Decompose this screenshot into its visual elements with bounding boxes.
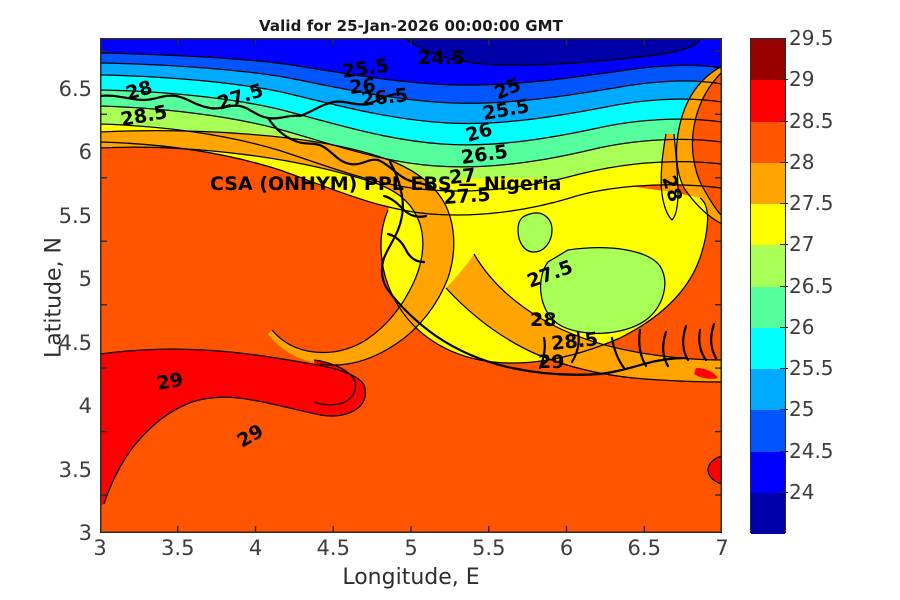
colorbar-band-10 [751,452,785,493]
ytick-4: 4 [79,394,92,418]
y-axis-title: Latitude, N [42,148,67,448]
colorbar-notch-4 [780,203,788,204]
colorbar-tick-24: 24 [789,480,814,504]
colorbar-notch-1 [780,79,788,80]
colorbar-notch-9 [780,409,788,410]
ytick-5: 5 [79,267,92,291]
map-annotation-label: CSA (ONHYM) PPL EBS — Nigeria [210,173,561,195]
figure-title: Valid for 25-Jan-2026 00:00:00 GMT [100,17,722,35]
colorbar-tick-29.5: 29.5 [789,26,834,50]
colorbar-band-7 [751,328,785,369]
colorbar-notch-7 [780,327,788,328]
colorbar-tick-27: 27 [789,232,814,256]
colorbar-tick-27.5: 27.5 [789,191,834,215]
colorbar-band-6 [751,287,785,328]
colorbar-tick-26: 26 [789,315,814,339]
contour-canvas[interactable]: 28 28.5 27.5 25.5 26 26.5 24.5 25 25.5 2… [100,38,722,533]
colorbar-band-4 [751,204,785,245]
colorbar-tick-labels: 29.52928.52827.52726.52625.52524.524 [789,38,859,533]
colorbar-tick-26.5: 26.5 [789,274,834,298]
xtick-4: 4 [249,536,262,560]
colorbar-tick-29: 29 [789,67,814,91]
ytick-3: 3 [79,521,92,545]
colorbar-notch-10 [780,451,788,452]
xtick-3: 3 [93,536,106,560]
xtick-5.5: 5.5 [472,536,505,560]
ytick-6.5: 6.5 [59,77,92,101]
contour-label: 29 [155,369,185,395]
filled-contour-bands [100,38,722,533]
colorbar-tick-28.5: 28.5 [789,109,834,133]
contour-label: 24.5 [418,47,465,69]
xtick-5: 5 [404,536,417,560]
colorbar-band-9 [751,410,785,451]
xtick-7: 7 [715,536,728,560]
colorbar-band-3 [751,163,785,204]
ytick-6: 6 [79,140,92,164]
colorbar-band-1 [751,80,785,121]
colorbar-band-11 [751,493,785,534]
colorbar-band-5 [751,245,785,286]
colorbar-tick-28: 28 [789,150,814,174]
contour-label: 28 [530,309,556,331]
colorbar-notch-11 [780,492,788,493]
xtick-4.5: 4.5 [317,536,350,560]
colorbar-tick-25: 25 [789,397,814,421]
ytick-3.5: 3.5 [59,458,92,482]
colorbar-band-8 [751,369,785,410]
colorbar-notch-2 [780,121,788,122]
colorbar-tick-24.5: 24.5 [789,439,834,463]
xtick-3.5: 3.5 [161,536,194,560]
contour-label: 29 [538,351,564,373]
colorbar-tick-25.5: 25.5 [789,356,834,380]
x-axis-title: Longitude, E [100,565,722,590]
contour-plot[interactable]: 28 28.5 27.5 25.5 26 26.5 24.5 25 25.5 2… [100,38,722,533]
colorbar-band-0 [751,39,785,80]
colorbar-notch-6 [780,286,788,287]
colorbar-notch-5 [780,244,788,245]
colorbar-band-2 [751,122,785,163]
colorbar-notch-8 [780,368,788,369]
xtick-6.5: 6.5 [628,536,661,560]
xtick-6: 6 [560,536,573,560]
colorbar-notch-3 [780,162,788,163]
